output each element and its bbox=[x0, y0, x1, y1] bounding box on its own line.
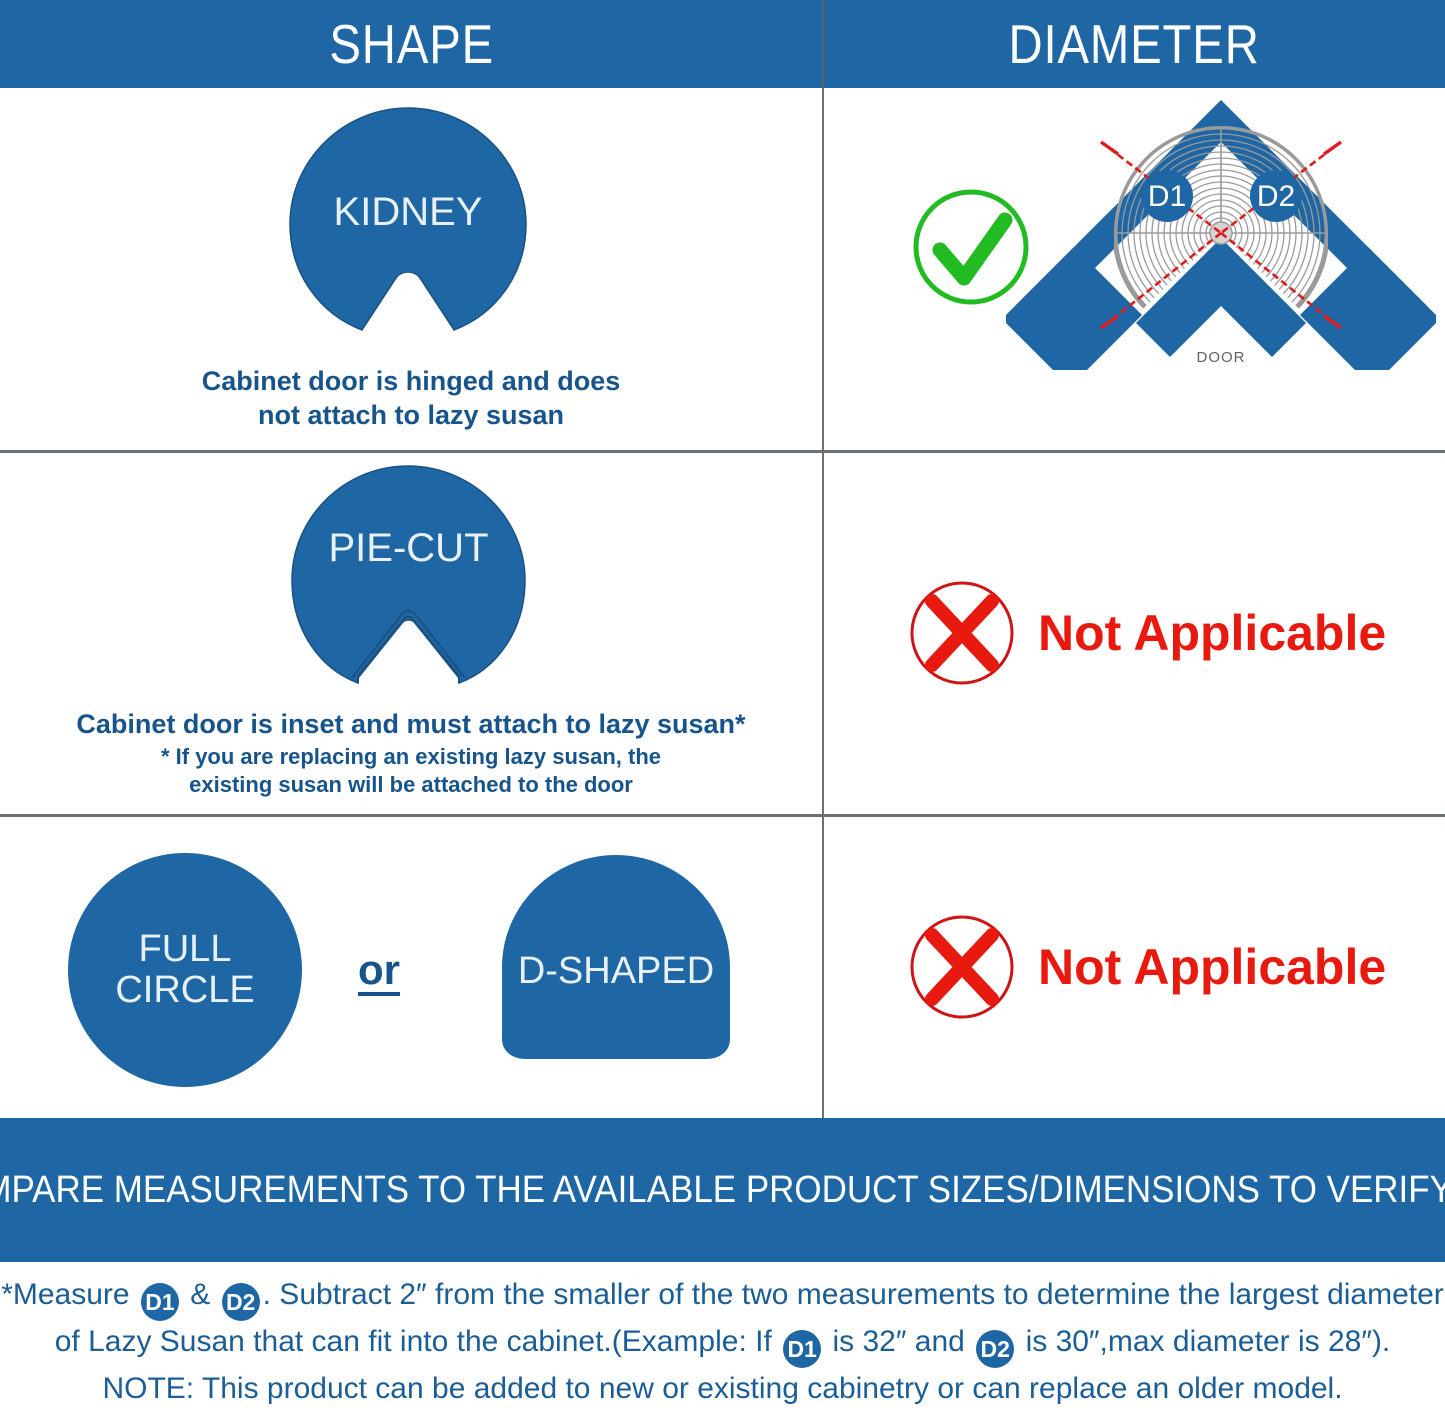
piecut-shape-label: PIE-CUT bbox=[329, 526, 489, 571]
footnote-line-2: of Lazy Susan that can fit into the cabi… bbox=[0, 1321, 1445, 1368]
not-applicable-label: Not Applicable bbox=[1038, 604, 1386, 662]
piecut-caption-primary: Cabinet door is inset and must attach to… bbox=[0, 707, 822, 741]
full-circle-label-line2: CIRCLE bbox=[115, 970, 254, 1011]
d2-badge-text: D2 bbox=[1257, 180, 1295, 213]
footnote-1-text-b: & bbox=[190, 1278, 210, 1311]
piecut-note-line2: existing susan will be attached to the d… bbox=[0, 771, 822, 799]
cell-shape-circle-dshaped: FULL CIRCLE or D-SHAPED bbox=[0, 815, 822, 1118]
d-shaped-graphic: D-SHAPED bbox=[500, 853, 732, 1078]
table-row: PIE-CUT Cabinet door is inset and must a… bbox=[0, 451, 1445, 814]
full-circle-label-line1: FULL bbox=[115, 929, 254, 970]
table-header-row: SHAPE DIAMETER bbox=[0, 0, 1445, 88]
footnote-1-text-c: . Subtract 2″ from the smaller of the tw… bbox=[263, 1278, 1444, 1311]
full-circle-shape-graphic: FULL CIRCLE bbox=[68, 853, 302, 1087]
d1-badge: D1 bbox=[1141, 170, 1193, 222]
header-column-divider bbox=[822, 0, 824, 88]
not-applicable-label: Not Applicable bbox=[1038, 938, 1386, 996]
header-shape-label: SHAPE bbox=[329, 12, 494, 76]
d2-badge: D2 bbox=[1250, 170, 1302, 222]
piecut-shape-graphic: PIE-CUT bbox=[290, 464, 527, 692]
banner-text: COMPARE MEASUREMENTS TO THE AVAILABLE PR… bbox=[0, 1169, 1445, 1212]
cell-shape-kidney: KIDNEY Cabinet door is hinged and does n… bbox=[0, 88, 822, 450]
footnote-2-text-c: is 30″,max diameter is 28″). bbox=[1026, 1325, 1391, 1358]
cell-diameter-kidney: D1 D2 DOOR bbox=[824, 88, 1445, 450]
compare-measurements-banner: COMPARE MEASUREMENTS TO THE AVAILABLE PR… bbox=[0, 1118, 1445, 1262]
cabinet-corner-diagram: D1 D2 DOOR bbox=[1006, 90, 1436, 370]
not-applicable-block: Not Applicable bbox=[824, 913, 1386, 1021]
d1-badge-text: D1 bbox=[1148, 180, 1186, 213]
footnote-2-text-b: is 32″ and bbox=[832, 1325, 964, 1358]
header-diameter-label: DIAMETER bbox=[1008, 12, 1259, 76]
cell-shape-piecut: PIE-CUT Cabinet door is inset and must a… bbox=[0, 451, 822, 814]
full-circle-shape-label: FULL CIRCLE bbox=[115, 929, 254, 1011]
kidney-caption: Cabinet door is hinged and does not atta… bbox=[0, 364, 822, 432]
kidney-shape-graphic: KIDNEY bbox=[288, 106, 528, 341]
footnote-2-text-a: of Lazy Susan that can fit into the cabi… bbox=[55, 1325, 772, 1358]
table-row: FULL CIRCLE or D-SHAPED Not Applicable bbox=[0, 815, 1445, 1118]
cabinet-front-corner bbox=[1136, 238, 1306, 357]
footnote-1-text-a: *Measure bbox=[1, 1278, 129, 1311]
cell-diameter-piecut: Not Applicable bbox=[824, 451, 1445, 814]
d-shaped-label: D-SHAPED bbox=[518, 950, 714, 993]
d1-badge: D1 bbox=[783, 1330, 821, 1368]
piecut-note-line1: * If you are replacing an existing lazy … bbox=[0, 743, 822, 771]
door-label: DOOR bbox=[1197, 349, 1246, 366]
piecut-caption-note: * If you are replacing an existing lazy … bbox=[0, 743, 822, 798]
d2-badge: D2 bbox=[976, 1330, 1014, 1368]
cell-diameter-circle-dshaped: Not Applicable bbox=[824, 815, 1445, 1118]
header-cell-diameter: DIAMETER bbox=[823, 0, 1445, 88]
table-row: KIDNEY Cabinet door is hinged and does n… bbox=[0, 88, 1445, 450]
or-conjunction: or bbox=[358, 946, 400, 994]
d1-badge: D1 bbox=[141, 1283, 179, 1321]
footnotes-block: *Measure D1 & D2. Subtract 2″ from the s… bbox=[0, 1268, 1445, 1418]
kidney-shape-label: KIDNEY bbox=[334, 190, 483, 235]
kidney-caption-line1: Cabinet door is hinged and does bbox=[0, 364, 822, 398]
x-mark-icon bbox=[908, 913, 1016, 1021]
x-mark-icon bbox=[908, 579, 1016, 687]
header-cell-shape: SHAPE bbox=[0, 0, 823, 88]
kidney-caption-line2: not attach to lazy susan bbox=[0, 398, 822, 432]
d2-badge: D2 bbox=[222, 1283, 260, 1321]
footnote-line-3: NOTE: This product can be added to new o… bbox=[0, 1368, 1445, 1411]
infographic-page: SHAPE DIAMETER KIDNEY Cabinet door is hi… bbox=[0, 0, 1445, 1418]
not-applicable-block: Not Applicable bbox=[824, 579, 1386, 687]
footnote-line-1: *Measure D1 & D2. Subtract 2″ from the s… bbox=[0, 1268, 1445, 1321]
